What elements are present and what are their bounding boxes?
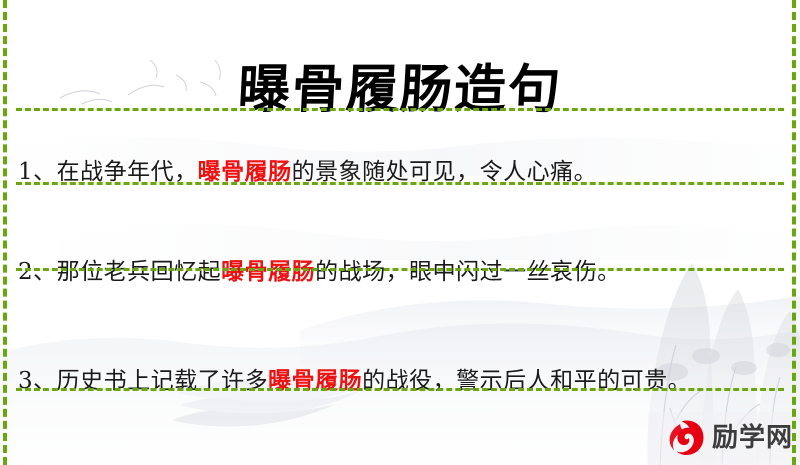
sentence-item-1: 1、在战争年代，曝骨履肠的景象随处可见，令人心痛。	[0, 131, 800, 205]
divider-top	[16, 108, 784, 111]
sentence-2-after: 的战场，眼中闪过一丝哀伤。	[315, 259, 621, 285]
sentence-item-2: 2、那位老兵回忆起曝骨履肠的战场，眼中闪过一丝哀伤。	[0, 228, 800, 314]
sentence-2-keyword: 曝骨履肠	[221, 258, 315, 285]
divider-bottom	[16, 388, 784, 391]
sentence-1-keyword: 曝骨履肠	[198, 158, 292, 185]
divider-2	[16, 268, 784, 271]
logo-text: 励学网	[712, 423, 793, 453]
sentence-2-before: 那位老兵回忆起	[57, 259, 222, 285]
site-logo[interactable]: 励学网	[666, 418, 793, 458]
page-root: 曝骨履肠造句 1、在战争年代，曝骨履肠的景象随处可见，令人心痛。 2、那位老兵回…	[0, 0, 800, 465]
divider-1	[16, 182, 784, 185]
frame-border-left	[3, 0, 7, 465]
flame-swirl-icon	[666, 418, 706, 458]
sentence-2-index: 2、	[18, 259, 57, 285]
frame-border-right	[792, 0, 796, 465]
sentence-list: 1、在战争年代，曝骨履肠的景象随处可见，令人心痛。 2、那位老兵回忆起曝骨履肠的…	[0, 108, 800, 465]
